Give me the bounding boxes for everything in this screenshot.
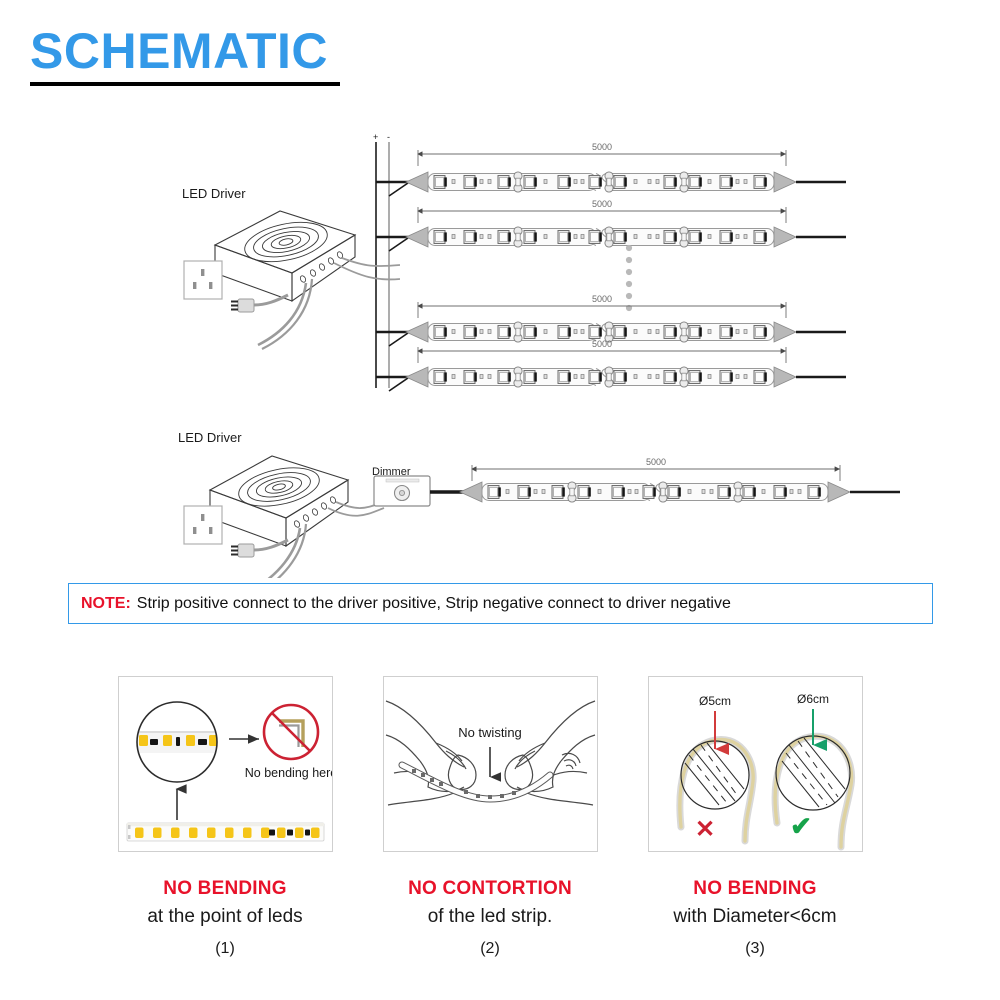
caption-number-3: (3) [625, 940, 885, 958]
svg-text:-: - [387, 132, 390, 142]
loop-5cm: Ø5cm [680, 694, 753, 841]
page-title-block: SCHEMATIC [30, 26, 340, 86]
dimension-label-row3: 5000 [592, 294, 612, 304]
note-text: Strip positive connect to the driver pos… [137, 595, 731, 613]
caption-panel-1: NO BENDING at the point of leds (1) [95, 878, 355, 958]
svg-text:+: + [373, 132, 378, 142]
no-bending-prohibition-icon [264, 705, 318, 759]
led-strip-photo [127, 823, 324, 841]
caption-sub-1: at the point of leds [95, 906, 355, 928]
caption-title-2: NO CONTORTION [360, 878, 620, 900]
wall-socket-bottom [180, 500, 290, 570]
power-plug-icon [231, 295, 288, 312]
dimension-label-row1: 5000 [592, 142, 612, 152]
panel-no-contortion: No twisting [383, 676, 598, 852]
caption-sub-2: of the led strip. [360, 906, 620, 928]
schematic-multi-strip-diagram: + - [0, 120, 1000, 410]
page-title: SCHEMATIC [30, 26, 340, 76]
caption-title-3: NO BENDING [625, 878, 885, 900]
caption-panel-2: NO CONTORTION of the led strip. (2) [360, 878, 620, 958]
dimmer-module [374, 476, 430, 506]
dimmer-and-single-strip: 5000 [360, 455, 1000, 535]
mark-bad: ✕ [695, 816, 715, 843]
power-plug-icon-bottom [231, 540, 288, 557]
repetition-ellipsis [626, 245, 632, 311]
note-banner: NOTE: Strip positive connect to the driv… [68, 583, 933, 624]
schematic-page: SCHEMATIC [0, 0, 1000, 1000]
caption-number-2: (2) [360, 940, 620, 958]
caption-title-1: NO BENDING [95, 878, 355, 900]
dimension-label-row2: 5000 [592, 199, 612, 209]
dimension-label-single-run: 5000 [646, 457, 666, 467]
dimension-label-row4: 5000 [592, 339, 612, 349]
mark-good: ✔ [790, 811, 812, 841]
no-bending-here-text: No bending here [245, 766, 332, 780]
title-underline [30, 82, 340, 86]
panel-no-bending-diameter: Ø5cm ✕ Ø6cm ✔ [648, 676, 863, 852]
caption-panel-3: NO BENDING with Diameter<6cm (3) [625, 878, 885, 958]
wall-socket-top [180, 255, 290, 325]
note-keyword: NOTE: [81, 595, 131, 613]
caption-sub-3: with Diameter<6cm [625, 906, 885, 928]
caption-number-1: (1) [95, 940, 355, 958]
panel-no-bending-leds: No bending here [118, 676, 333, 852]
diameter-label-good: Ø6cm [797, 692, 829, 706]
diameter-label-bad: Ø5cm [699, 694, 731, 708]
loop-6cm: Ø6cm [775, 692, 851, 847]
no-twisting-text: No twisting [458, 725, 522, 740]
